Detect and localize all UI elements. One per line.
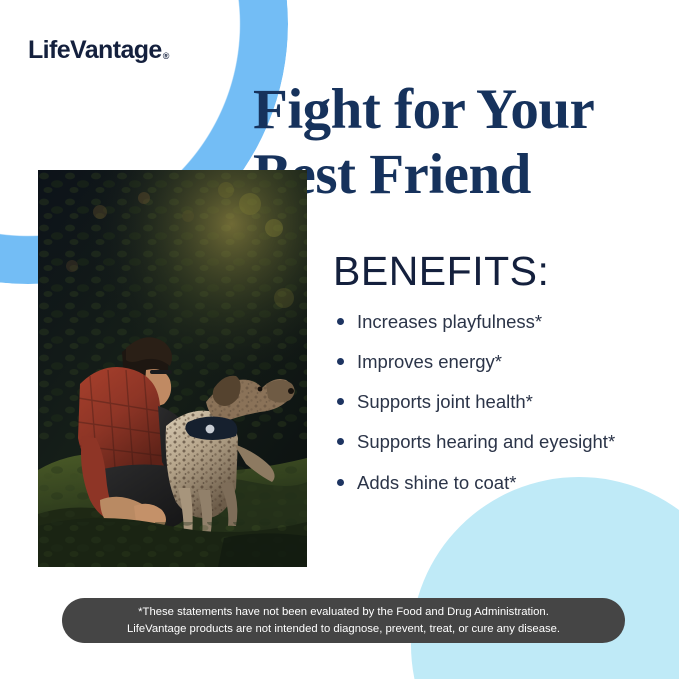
list-item: Increases playfulness* — [336, 310, 666, 333]
brand-logo: LifeVantage® — [28, 36, 169, 65]
benefits-list: Increases playfulness* Improves energy* … — [336, 310, 666, 511]
bullet-dot-icon — [337, 358, 344, 365]
benefit-label: Adds shine to coat* — [357, 472, 516, 493]
list-item: Supports joint health* — [336, 390, 666, 413]
disclaimer-line-2: LifeVantage products are not intended to… — [127, 621, 560, 637]
marketing-graphic: LifeVantage® Fight for Your Best Friend … — [0, 0, 679, 679]
list-item: Improves energy* — [336, 350, 666, 373]
photo-illustration — [38, 170, 307, 567]
hero-photo — [38, 170, 307, 567]
disclaimer-line-1: *These statements have not been evaluate… — [127, 604, 560, 620]
disclaimer-text: *These statements have not been evaluate… — [127, 604, 560, 637]
benefit-label: Improves energy* — [357, 351, 502, 372]
fda-disclaimer-banner: *These statements have not been evaluate… — [62, 598, 625, 643]
bullet-dot-icon — [337, 398, 344, 405]
list-item: Supports hearing and eyesight* — [336, 430, 666, 453]
brand-logo-text: LifeVantage — [28, 36, 162, 64]
benefits-heading: BENEFITS: — [333, 248, 549, 295]
benefit-label: Supports joint health* — [357, 391, 533, 412]
bullet-dot-icon — [337, 438, 344, 445]
registered-trademark-icon: ® — [163, 51, 169, 61]
list-item: Adds shine to coat* — [336, 471, 666, 494]
bullet-dot-icon — [337, 479, 344, 486]
headline-line-1: Fight for Your — [253, 78, 663, 143]
bullet-dot-icon — [337, 318, 344, 325]
benefit-label: Supports hearing and eyesight* — [357, 431, 615, 452]
headline-line-2: Best Friend — [253, 143, 663, 208]
page-title: Fight for Your Best Friend — [253, 78, 663, 208]
benefit-label: Increases playfulness* — [357, 311, 542, 332]
